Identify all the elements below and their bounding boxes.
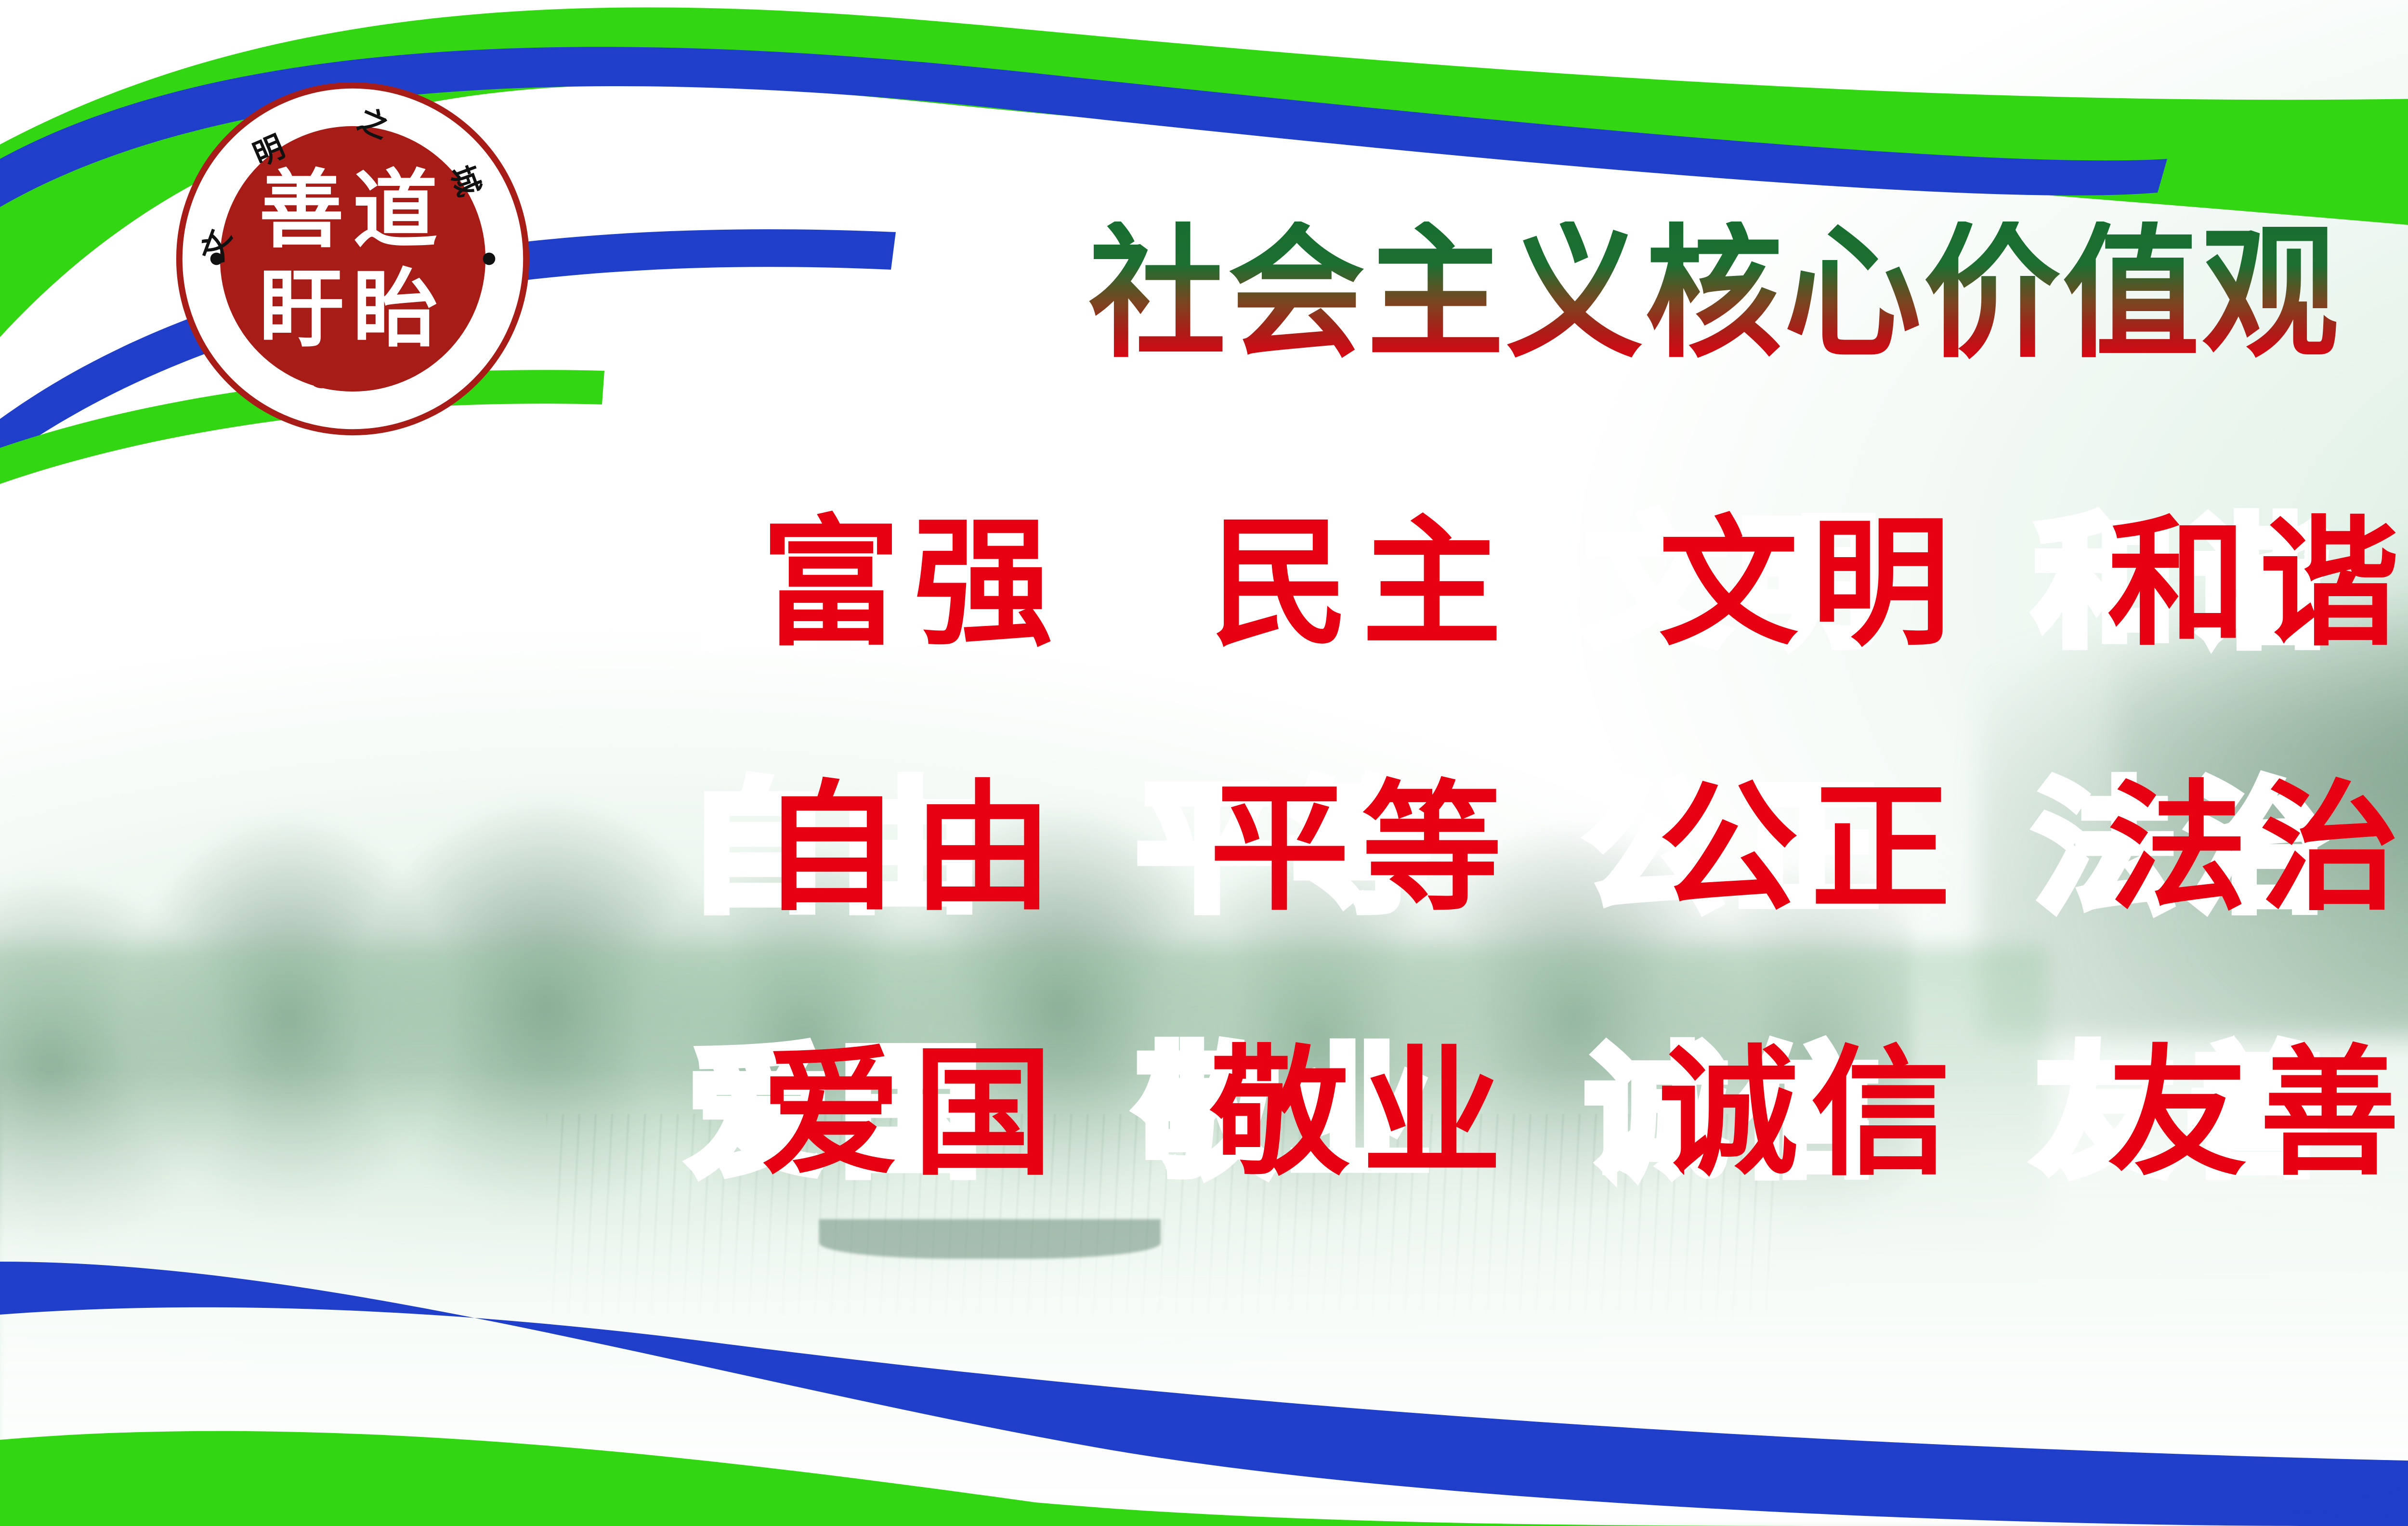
value-word: 爱国 爱国	[689, 1044, 1065, 1184]
core-values-list: 富强 富强 民主 民主 文明 文明 和谐 和谐 自由 自由 平等	[689, 496, 2408, 1201]
seal-center-line1: 善道	[259, 160, 447, 260]
value-row: 富强 富强 民主 民主 文明 文明 和谐 和谐	[689, 496, 2408, 672]
value-word: 法治 法治	[2035, 779, 2408, 919]
value-word: 和谐 和谐	[2035, 514, 2408, 654]
page-title: 社会主义核心价值观	[814, 212, 2408, 376]
value-row: 爱国 爱国 敬业 敬业 诚信 诚信 友善 友善	[689, 1026, 2408, 1201]
boat	[819, 1219, 1161, 1259]
value-word: 文明 文明	[1586, 514, 1963, 654]
value-word: 诚信 诚信	[1586, 1044, 1963, 1184]
value-word: 富强 富强	[689, 514, 1065, 654]
value-word: 公正 公正	[1586, 779, 1963, 919]
value-word: 友善 友善	[2035, 1044, 2408, 1184]
banner-board: 文明之城 wén míng zhī chéng 善道 盱眙 社会主义核心价值观 …	[0, 0, 2408, 1526]
value-word: 自由 自由	[689, 779, 1065, 919]
value-word: 平等 平等	[1138, 779, 1514, 919]
headline-text: 社会主义核心价值观	[1088, 222, 2340, 366]
value-word: 敬业 敬业	[1138, 1044, 1514, 1184]
city-seal-logo: 文明之城 wén míng zhī chéng 善道 盱眙	[176, 82, 530, 436]
seal-center-line2: 盱眙	[259, 260, 447, 359]
value-word: 民主 民主	[1138, 514, 1514, 654]
value-row: 自由 自由 平等 平等 公正 公正 法治 法治	[689, 761, 2408, 937]
